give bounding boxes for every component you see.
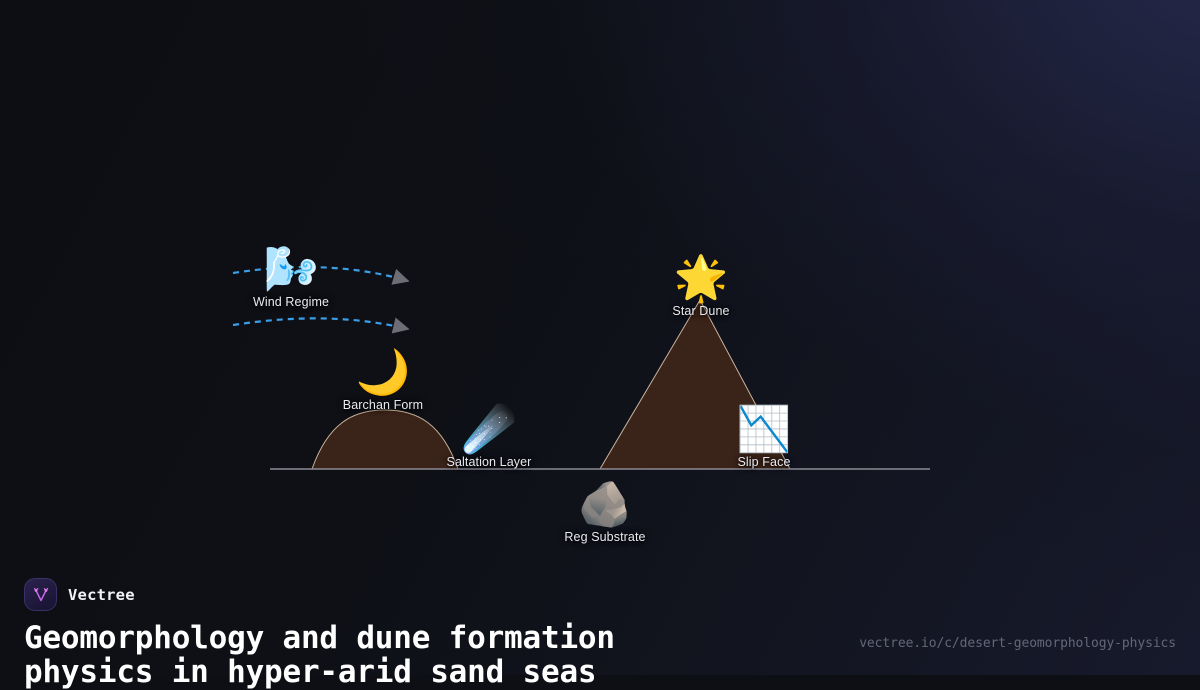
node-label-reg-substrate: Reg Substrate — [564, 530, 645, 544]
node-reg-substrate[interactable]: 🪨 Reg Substrate — [564, 483, 645, 544]
page-title: Geomorphology and dune formation physics… — [24, 621, 615, 689]
rock-icon: 🪨 — [564, 483, 645, 527]
footer: Vectree Geomorphology and dune formation… — [0, 555, 1200, 675]
glowing-star-icon: 🌟 — [672, 257, 729, 301]
brand-lockup[interactable]: Vectree — [24, 578, 135, 611]
wind-arc-lower — [233, 318, 408, 329]
node-label-slip-face: Slip Face — [737, 455, 792, 469]
logo-glyph — [31, 585, 51, 605]
vectree-tree-logo-icon — [24, 578, 57, 611]
node-slip-face[interactable]: 📉 Slip Face — [737, 408, 792, 469]
wind-face-icon: 🌬️ — [253, 248, 329, 292]
node-barchan-form[interactable]: 🌙 Barchan Form — [343, 351, 423, 412]
chart-decreasing-icon: 📉 — [737, 408, 792, 452]
node-label-star-dune: Star Dune — [672, 304, 729, 318]
node-wind-regime[interactable]: 🌬️ Wind Regime — [253, 248, 329, 309]
source-url: vectree.io/c/desert-geomorphology-physic… — [859, 636, 1176, 651]
node-saltation-layer[interactable]: ☄️ Saltation Layer — [447, 408, 532, 469]
crescent-moon-icon: 🌙 — [343, 351, 423, 395]
node-star-dune[interactable]: 🌟 Star Dune — [672, 257, 729, 318]
page-title-line-1: Geomorphology and dune formation — [24, 621, 615, 655]
barchan-dune-shape — [312, 410, 458, 469]
node-label-wind-regime: Wind Regime — [253, 295, 329, 309]
page-title-line-2: physics in hyper-arid sand seas — [24, 655, 615, 689]
brand-name: Vectree — [68, 586, 135, 604]
node-label-saltation-layer: Saltation Layer — [447, 455, 532, 469]
comet-icon: ☄️ — [447, 408, 532, 452]
node-label-barchan-form: Barchan Form — [343, 398, 423, 412]
